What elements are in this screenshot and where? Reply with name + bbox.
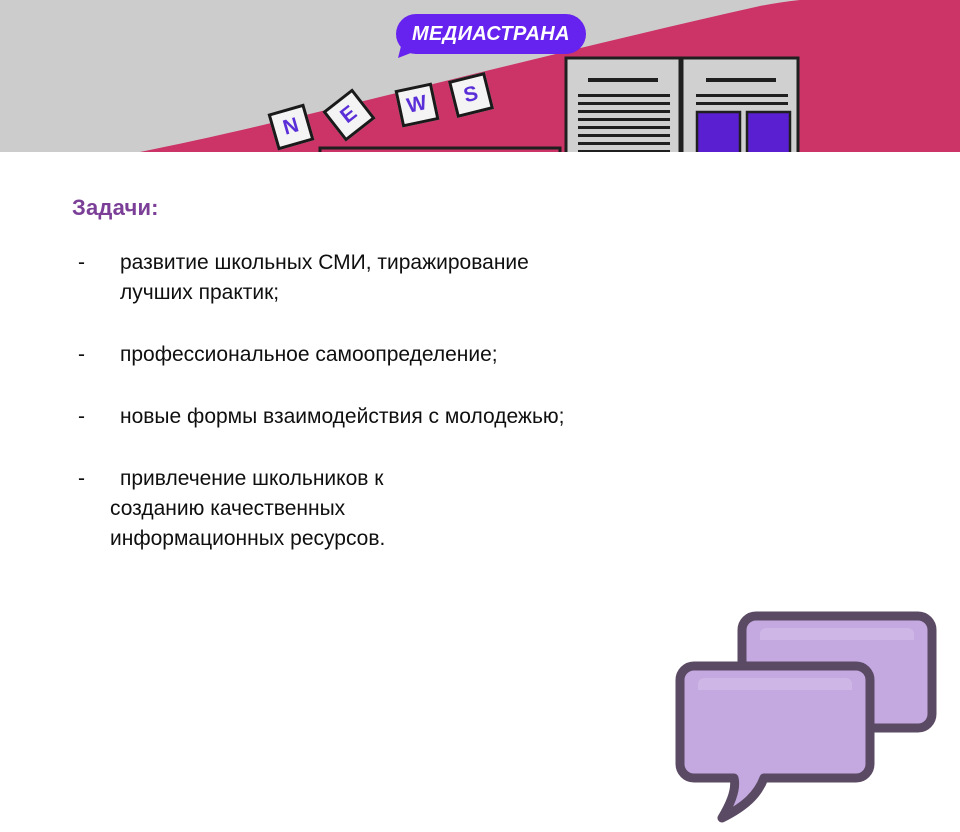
bullet-marker: - <box>78 402 85 432</box>
bullet-marker: - <box>78 464 85 494</box>
bullet-text: привлечение школьников к созданию качест… <box>72 464 732 554</box>
newspaper-left-headline <box>588 78 658 82</box>
newspaper-right-headline <box>706 78 776 82</box>
newspaper-photo-right <box>747 112 790 152</box>
list-item: - профессиональное самоопределение; <box>72 340 732 370</box>
bullet-text: профессиональное самоопределение; <box>72 340 732 370</box>
news-tile-w: W <box>394 82 439 127</box>
newspaper-illustration <box>566 58 798 152</box>
bullet-marker: - <box>78 340 85 370</box>
list-item: - новые формы взаимодействия с молодежью… <box>72 402 732 432</box>
newspaper-photo-left <box>697 112 740 152</box>
logo-text: МЕДИАСТРАНА <box>396 14 586 54</box>
logo-bubble: МЕДИАСТРАНА <box>396 14 586 54</box>
bullet-marker: - <box>78 248 85 278</box>
speech-bubble-front-icon <box>680 666 870 818</box>
header-banner: МЕДИАСТРАНА N E W S <box>0 0 960 152</box>
bullet-text: новые формы взаимодействия с молодежью; <box>72 402 732 432</box>
list-item: - привлечение школьников к созданию каче… <box>72 464 732 554</box>
bullet-text: развитие школьных СМИ, тиражирование луч… <box>72 248 732 308</box>
slide-content: Задачи: - развитие школьных СМИ, тиражир… <box>0 152 960 720</box>
speech-bubbles-icon <box>672 604 960 832</box>
slide: МЕДИАСТРАНА N E W S Задачи: - развитие ш… <box>0 0 960 720</box>
page-title: Задачи: <box>72 195 159 221</box>
speech-bubbles-graphic <box>672 604 960 832</box>
list-item: - развитие школьных СМИ, тиражирование л… <box>72 248 732 308</box>
objectives-list: - развитие школьных СМИ, тиражирование л… <box>72 248 732 586</box>
